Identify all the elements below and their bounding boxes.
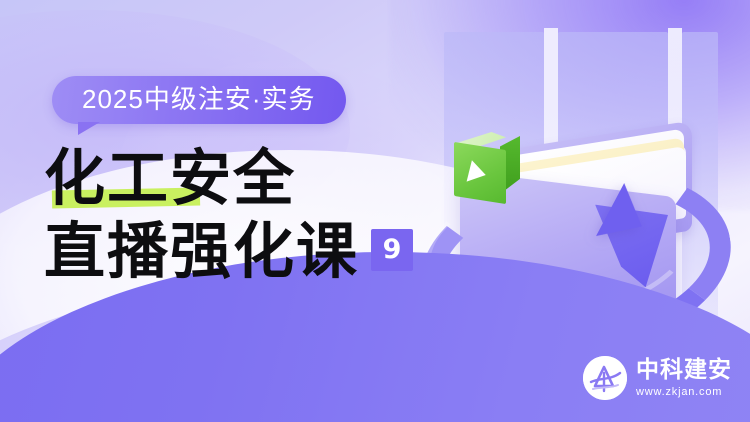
episode-number-badge: 9 [371,229,413,271]
brand-name: 中科建安 [636,359,732,382]
course-promo-banner: 2025中级注安·实务 化工安全 直播强化课9 中科建安 www.zkjan.c… [0,0,750,422]
badge-tail [78,122,100,135]
brand-text: 中科建安 www.zkjan.com [636,359,732,398]
course-category-label: 2025中级注安·实务 [82,84,316,114]
headline-line-1: 化工安全 [44,143,296,214]
headline-line-2: 直播强化课 [44,216,359,287]
brand-mark-icon [583,356,627,400]
headline-row-1: 化工安全 [44,148,464,209]
headline-row-2: 直播强化课9 [44,221,464,282]
headline-block: 化工安全 直播强化课9 [44,148,464,282]
brand-logo[interactable]: 中科建安 www.zkjan.com [583,356,732,400]
course-category-badge: 2025中级注安·实务 [52,76,346,124]
brand-url: www.zkjan.com [636,387,732,398]
